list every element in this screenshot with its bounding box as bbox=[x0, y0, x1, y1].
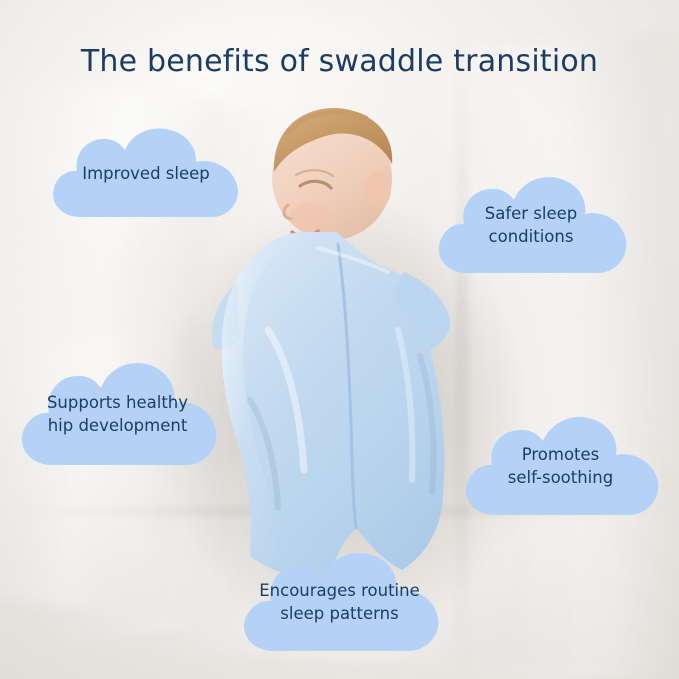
page-title: The benefits of swaddle transition bbox=[0, 44, 679, 79]
benefit-cloud-safer-sleep: Safer sleep conditions bbox=[431, 170, 631, 282]
benefit-cloud-label: Improved sleep bbox=[72, 163, 220, 186]
benefit-cloud-improved-sleep: Improved sleep bbox=[44, 122, 248, 226]
benefit-cloud-label: Safer sleep conditions bbox=[475, 203, 588, 249]
benefit-cloud-routine-sleep: Encourages routine sleep patterns bbox=[236, 546, 443, 660]
benefit-cloud-hip-development: Supports healthy hip development bbox=[14, 356, 221, 474]
infographic-canvas: The benefits of swaddle transition Impro… bbox=[0, 0, 679, 679]
benefit-cloud-label: Encourages routine sleep patterns bbox=[249, 580, 430, 626]
benefit-cloud-label: Supports healthy hip development bbox=[37, 392, 198, 438]
benefit-cloud-self-soothing: Promotes self-soothing bbox=[458, 410, 663, 524]
benefit-cloud-label: Promotes self-soothing bbox=[498, 444, 623, 490]
